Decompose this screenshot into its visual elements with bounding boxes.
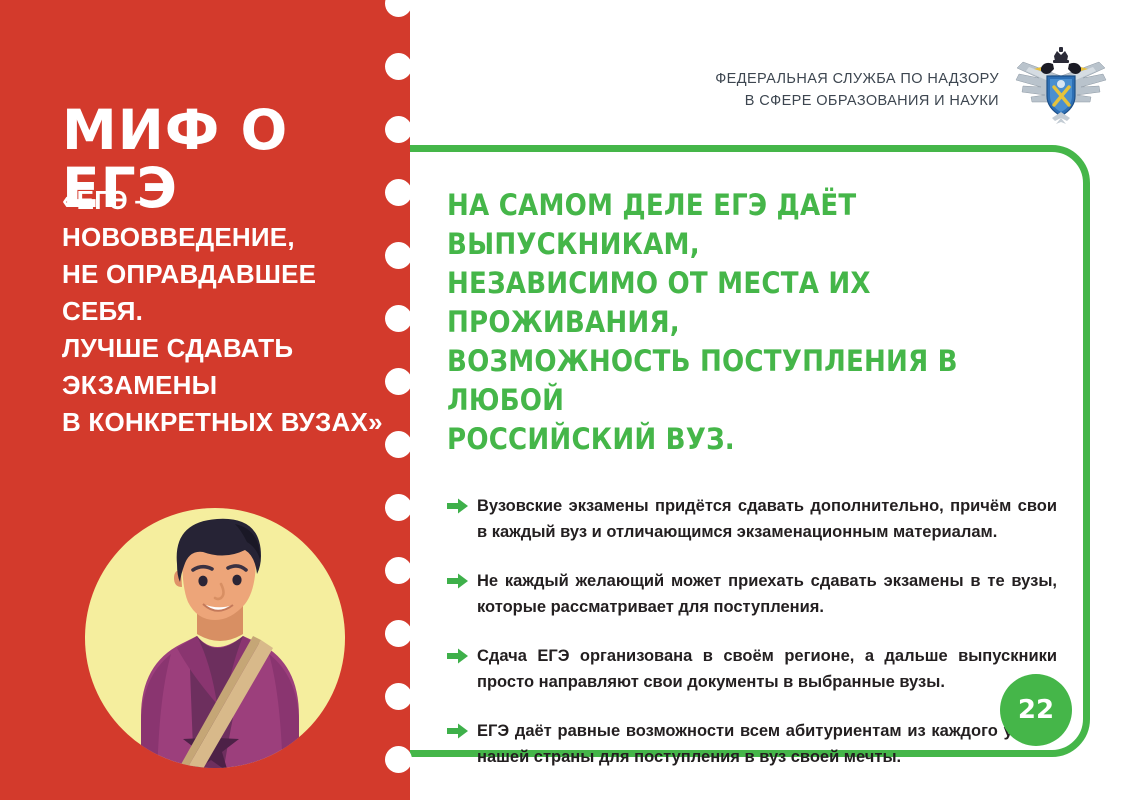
arrow-right-icon xyxy=(447,648,468,664)
list-item: Сдача ЕГЭ организована в своём регионе, … xyxy=(447,643,1057,695)
main-content: НА САМОМ ДЕЛЕ ЕГЭ ДАЁТ ВЫПУСКНИКАМ, НЕЗА… xyxy=(447,186,1057,770)
student-portrait-illustration xyxy=(85,508,370,800)
organization-header: ФЕДЕРАЛЬНАЯ СЛУЖБА ПО НАДЗОРУ В СФЕРЕ ОБ… xyxy=(715,46,1109,126)
organization-name: ФЕДЕРАЛЬНАЯ СЛУЖБА ПО НАДЗОРУ В СФЕРЕ ОБ… xyxy=(715,46,999,112)
list-item-text: ЕГЭ даёт равные возможности всем абитури… xyxy=(477,722,1057,766)
lead-statement: НА САМОМ ДЕЛЕ ЕГЭ ДАЁТ ВЫПУСКНИКАМ, НЕЗА… xyxy=(447,186,1057,459)
arrow-right-icon xyxy=(447,573,468,589)
page-number-badge: 22 xyxy=(1000,674,1072,746)
list-item: ЕГЭ даёт равные возможности всем абитури… xyxy=(447,718,1057,770)
list-item-text: Вузовские экзамены придётся сдавать допо… xyxy=(477,497,1057,541)
arrow-right-icon xyxy=(447,723,468,739)
list-item-text: Сдача ЕГЭ организована в своём регионе, … xyxy=(477,647,1057,691)
list-item-text: Не каждый желающий может приехать сдават… xyxy=(477,572,1057,616)
list-item: Вузовские экзамены придётся сдавать допо… xyxy=(447,493,1057,545)
arrow-right-icon xyxy=(447,498,468,514)
list-item: Не каждый желающий может приехать сдават… xyxy=(447,568,1057,620)
slide: ФЕДЕРАЛЬНАЯ СЛУЖБА ПО НАДЗОРУ В СФЕРЕ ОБ… xyxy=(0,0,1131,800)
myth-quote-text: «ЕГЭ — НОВОВВЕДЕНИЕ, НЕ ОПРАВДАВШЕЕ СЕБЯ… xyxy=(62,182,392,441)
rosobrnadzor-emblem-icon xyxy=(1013,46,1109,126)
facts-list: Вузовские экзамены придётся сдавать допо… xyxy=(447,493,1057,770)
